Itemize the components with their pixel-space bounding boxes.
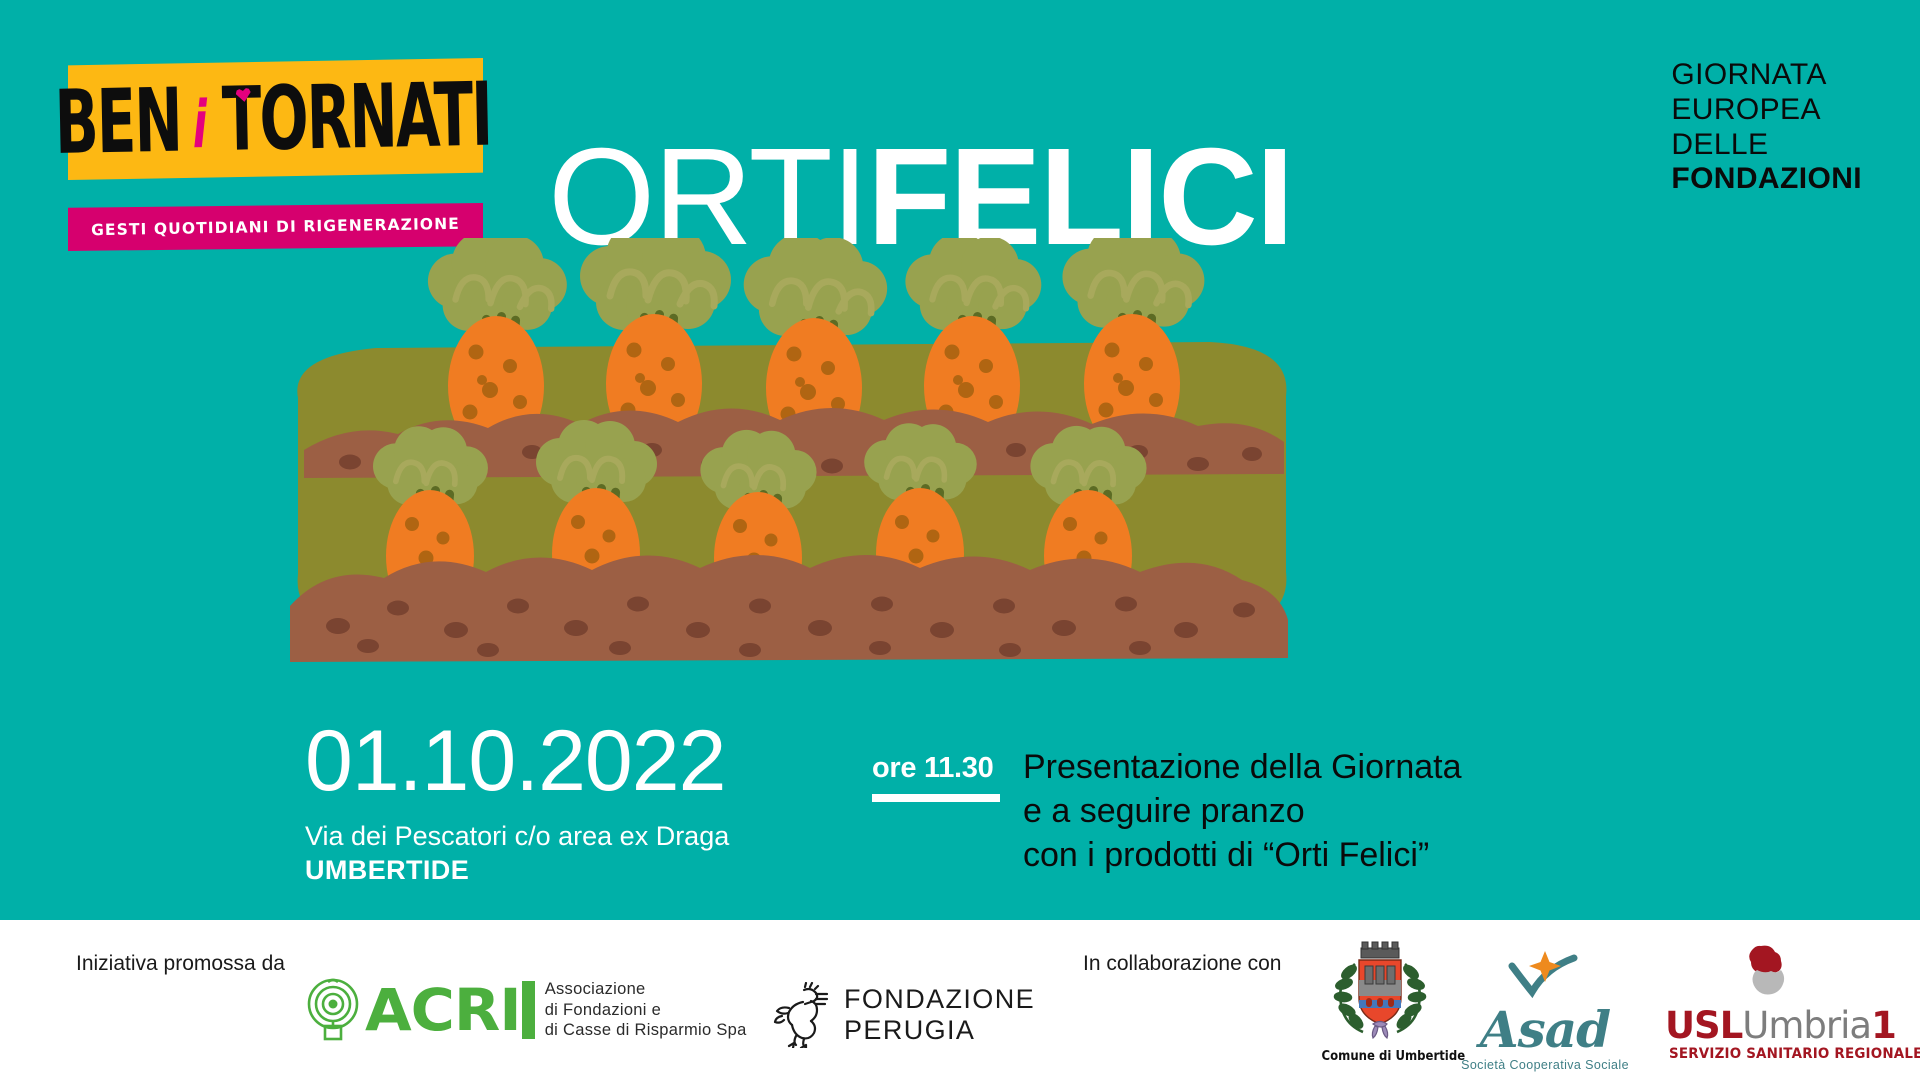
usl-word-usl: USL xyxy=(1665,1004,1742,1047)
umbria-region-map-icon xyxy=(1665,942,1865,1000)
asad-wordmark: Asad xyxy=(1460,1005,1630,1055)
usl-subtitle: SERVIZIO SANITARIO REGIONALE xyxy=(1669,1046,1861,1062)
logo-fondazione-perugia: FONDAZIONE PERUGIA xyxy=(770,982,1035,1048)
event-description: Presentazione della Giornata e a seguire… xyxy=(1023,745,1462,878)
collaboration-label: In collaborazione con xyxy=(1083,952,1281,976)
logo-comune-umbertide: Comune di Umbertide xyxy=(1315,938,1445,1064)
event-date-block: 01.10.2022 Via dei Pescatori c/o area ex… xyxy=(305,718,729,888)
acri-subtitle: Associazione di Fondazioni e di Casse di… xyxy=(545,979,747,1042)
perugia-line-1: FONDAZIONE xyxy=(844,984,1035,1015)
acri-subtitle-line-1: Associazione xyxy=(545,979,747,1000)
footer-logos-bar: Iniziativa promossa da In collaborazione… xyxy=(0,920,1920,1080)
asad-subtitle: Società Cooperativa Sociale xyxy=(1460,1058,1630,1072)
acri-subtitle-line-3: di Casse di Risparmio Spa xyxy=(545,1020,747,1041)
acri-wordmark: ACRI xyxy=(365,981,521,1039)
brand-word-ben: BEN xyxy=(54,77,182,167)
usl-wordmark: USLUmbria1 xyxy=(1665,1007,1865,1044)
description-line-2: e a seguire pranzo xyxy=(1023,789,1462,833)
europe-day-line-2: EUROPEA xyxy=(1671,93,1862,128)
perugia-wordmark: FONDAZIONE PERUGIA xyxy=(844,984,1035,1046)
logo-asad: Asad Società Cooperativa Sociale xyxy=(1460,948,1630,1072)
europe-day-line-3: DELLE xyxy=(1671,128,1862,163)
comune-caption: Comune di Umbertide xyxy=(1322,1049,1439,1064)
logo-usl-umbria-1: USLUmbria1 SERVIZIO SANITARIO REGIONALE xyxy=(1665,942,1865,1062)
logo-acri: ACRI Associazione di Fondazioni e di Cas… xyxy=(300,977,747,1043)
european-foundations-day-label: GIORNATA EUROPEA DELLE FONDAZIONI xyxy=(1671,58,1862,197)
event-time: ore 11.30 xyxy=(872,752,1000,785)
event-city: UMBERTIDE xyxy=(305,854,729,888)
acri-subtitle-line-2: di Fondazioni e xyxy=(545,1000,747,1021)
event-venue: Via dei Pescatori c/o area ex Draga xyxy=(305,820,729,854)
griffin-icon xyxy=(770,982,832,1048)
brand-word-tornati: TORNATI xyxy=(221,71,492,164)
event-time-block: ore 11.30 xyxy=(872,752,1000,802)
europe-day-line-4: FONDAZIONI xyxy=(1671,162,1862,197)
event-date: 01.10.2022 xyxy=(305,718,729,804)
promoted-by-label: Iniziativa promossa da xyxy=(76,952,285,976)
brand-wordmark: BEN i TORNATI xyxy=(67,54,484,184)
europe-day-line-1: GIORNATA xyxy=(1671,58,1862,93)
poster-canvas: BEN i TORNATI GESTI QUOTIDIANI DI RIGENE… xyxy=(0,0,1920,1080)
usl-word-umbria: Umbria xyxy=(1742,1004,1871,1047)
time-underline-rule xyxy=(872,794,1000,802)
vegetable-garden-illustration xyxy=(280,238,1300,668)
acri-spiral-icon xyxy=(300,977,366,1043)
acri-divider-bar xyxy=(522,981,535,1039)
description-line-1: Presentazione della Giornata xyxy=(1023,745,1462,789)
brand-word-i: i xyxy=(186,92,211,158)
coat-of-arms-icon xyxy=(1315,938,1445,1042)
check-star-icon xyxy=(1460,948,1630,1000)
perugia-line-2: PERUGIA xyxy=(844,1015,1035,1046)
usl-word-number: 1 xyxy=(1871,1004,1897,1047)
description-line-3: con i prodotti di “Orti Felici” xyxy=(1023,833,1462,877)
